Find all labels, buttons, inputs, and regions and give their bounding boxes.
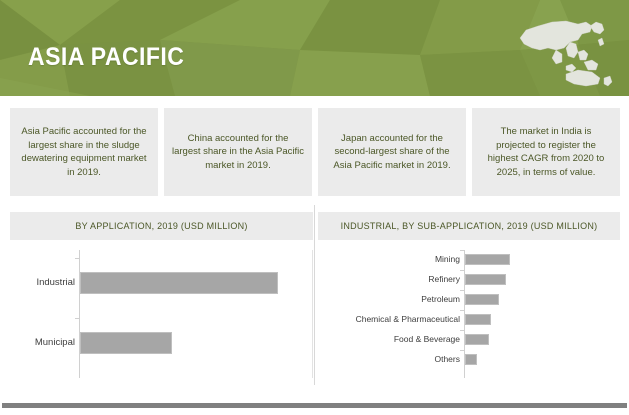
panel-divider	[314, 205, 315, 385]
chart-row: Food & Beverage	[318, 334, 620, 345]
callout-japan: Japan accounted for the second-largest s…	[318, 108, 466, 196]
footer-divider	[2, 403, 627, 408]
asia-pacific-map-icon	[512, 12, 620, 90]
chart-row: Others	[318, 354, 620, 365]
chart-row: Industrial	[10, 272, 313, 294]
category-label: Municipal	[35, 337, 75, 348]
axis-tick	[75, 318, 79, 319]
bar-petroleum	[465, 294, 499, 305]
chart-row: Mining	[318, 254, 620, 265]
bar-mining	[465, 254, 510, 265]
bar-refinery	[465, 274, 506, 285]
callout-row: Asia Pacific accounted for the largest s…	[0, 108, 629, 198]
chart-by-application: Industrial Municipal	[10, 250, 313, 385]
category-axis-line	[79, 250, 80, 378]
callout-text: Japan accounted for the second-largest s…	[326, 132, 458, 173]
page-title: ASIA PACIFIC	[28, 42, 184, 72]
callout-text: Asia Pacific accounted for the largest s…	[18, 125, 150, 179]
axis-tick	[75, 258, 79, 259]
category-label: Chemical & Pharmaceutical	[356, 314, 460, 324]
chart-row: Refinery	[318, 274, 620, 285]
axis-tick	[460, 330, 464, 331]
bar-municipal	[80, 332, 172, 354]
plot-right-border	[312, 250, 313, 378]
axis-tick	[460, 350, 464, 351]
bar-chemical-pharmaceutical	[465, 314, 491, 325]
category-label: Mining	[435, 254, 460, 264]
callout-text: China accounted for the largest share in…	[172, 132, 304, 173]
axis-tick	[460, 290, 464, 291]
section-header-by-application: BY APPLICATION, 2019 (USD MILLION)	[10, 212, 313, 240]
axis-tick	[460, 310, 464, 311]
infographic-page: ASIA PACIFIC Asia Pacific accounted for …	[0, 0, 629, 415]
axis-tick	[460, 270, 464, 271]
category-label: Others	[434, 354, 460, 364]
axis-tick	[460, 250, 464, 251]
header-banner: ASIA PACIFIC	[0, 0, 629, 96]
callout-text: The market in India is projected to regi…	[480, 125, 612, 179]
callout-china: China accounted for the largest share in…	[164, 108, 312, 196]
bar-others	[465, 354, 477, 365]
category-label: Food & Beverage	[394, 334, 460, 344]
category-label: Refinery	[428, 274, 460, 284]
section-header-label: BY APPLICATION, 2019 (USD MILLION)	[75, 221, 247, 231]
callout-asia-pacific: Asia Pacific accounted for the largest s…	[10, 108, 158, 196]
chart-row: Petroleum	[318, 294, 620, 305]
section-header-by-sub-application: INDUSTRIAL, BY SUB-APPLICATION, 2019 (US…	[318, 212, 620, 240]
callout-india: The market in India is projected to regi…	[472, 108, 620, 196]
chart-row: Chemical & Pharmaceutical	[318, 314, 620, 325]
section-header-label: INDUSTRIAL, BY SUB-APPLICATION, 2019 (US…	[341, 221, 598, 231]
bar-food-beverage	[465, 334, 489, 345]
category-label: Petroleum	[421, 294, 460, 304]
chart-row: Municipal	[10, 332, 313, 354]
bar-industrial	[80, 272, 278, 294]
category-label: Industrial	[36, 277, 75, 288]
chart-industrial-by-sub-application: Mining Refinery Petroleum Chemical & Pha…	[318, 250, 620, 385]
